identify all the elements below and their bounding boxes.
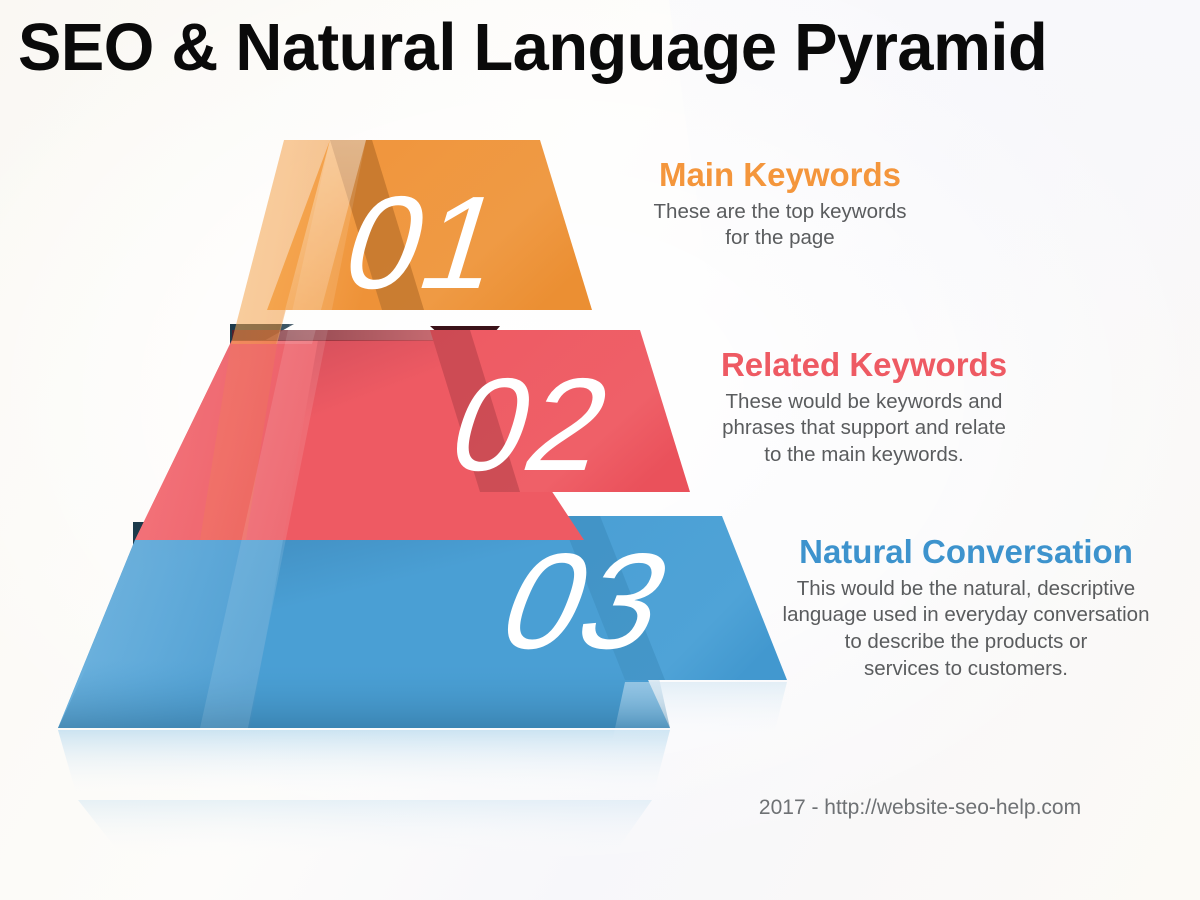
callout-2-description: These would be keywords and phrases that… [640, 389, 1088, 469]
callout-level-1: Main Keywords These are the top keywords… [556, 158, 1004, 252]
pyramid-level-3[interactable]: 03 [58, 516, 787, 860]
infographic-canvas: SEO & Natural Language Pyramid [0, 0, 1200, 900]
level-3-reflection [58, 730, 670, 800]
level-3-reflection-soft [78, 800, 652, 860]
callout-3-heading: Natural Conversation [740, 535, 1192, 570]
level-3-panel-reflection [612, 682, 787, 742]
callout-level-2: Related Keywords These would be keywords… [640, 348, 1088, 469]
footer-credit: 2017 - http://website-seo-help.com [690, 796, 1150, 820]
callout-level-3: Natural Conversation This would be the n… [740, 535, 1192, 682]
callout-1-heading: Main Keywords [556, 158, 1004, 193]
callout-3-description: This would be the natural, descriptive l… [740, 576, 1192, 683]
callout-2-heading: Related Keywords [640, 348, 1088, 383]
callout-1-description: These are the top keywords for the page [556, 199, 1004, 252]
